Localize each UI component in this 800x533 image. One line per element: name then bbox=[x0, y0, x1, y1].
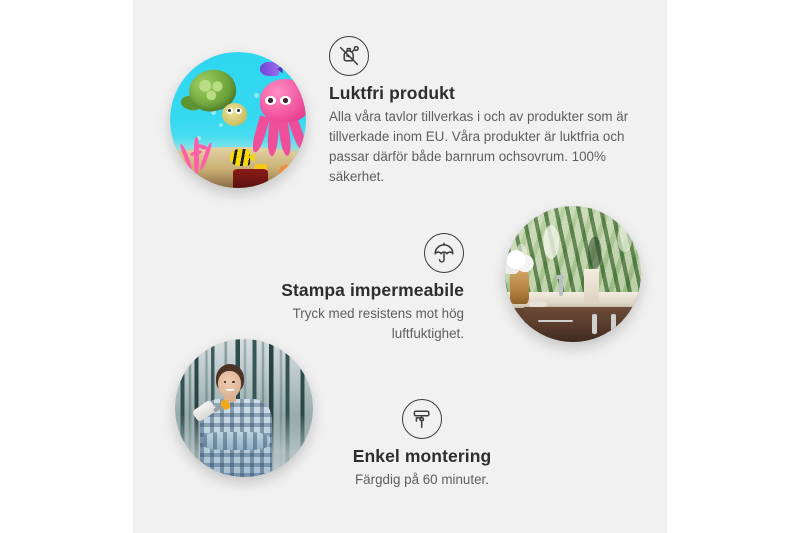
sea-turtle-illustration bbox=[185, 70, 245, 127]
person-crossed-arms bbox=[203, 432, 269, 450]
purple-fish-illustration bbox=[260, 62, 279, 77]
white-flowers bbox=[505, 250, 534, 274]
feature-title: Enkel montering bbox=[329, 446, 515, 467]
person-eye bbox=[232, 381, 235, 383]
person-smile bbox=[226, 389, 233, 391]
screenshot-stage: Luktfri produkt Alla våra tavlor tillver… bbox=[0, 0, 800, 533]
turtle-head bbox=[222, 103, 247, 126]
turtle-eye bbox=[235, 108, 242, 114]
feature-description: Alla våra tavlor tillverkas i och av pro… bbox=[329, 107, 629, 186]
feature-title: Stampa impermeabile bbox=[221, 280, 464, 301]
feature-odourless: Luktfri produkt Alla våra tavlor tillver… bbox=[329, 36, 629, 187]
feature-description: Färgdig på 60 minuter. bbox=[329, 470, 515, 490]
cabinet-handle bbox=[592, 314, 597, 334]
feature-waterproof: Stampa impermeabile Tryck med resistens … bbox=[221, 233, 464, 344]
octopus-head bbox=[260, 79, 306, 122]
person-face bbox=[218, 371, 241, 398]
bathroom-tropical-wallpaper-circle[interactable] bbox=[505, 206, 641, 342]
octopus-eye bbox=[265, 96, 276, 105]
turtle-eye bbox=[227, 108, 234, 114]
content-panel: Luktfri produkt Alla våra tavlor tillver… bbox=[133, 0, 667, 533]
no-odour-perfume-bottle-icon bbox=[329, 36, 369, 76]
cabinet-handle bbox=[611, 314, 617, 334]
person-eye bbox=[224, 381, 227, 383]
painter-person bbox=[200, 364, 272, 477]
octopus-illustration bbox=[252, 79, 306, 155]
umbrella-icon bbox=[424, 233, 464, 273]
coral-illustration bbox=[178, 128, 219, 174]
painter-forest-circle[interactable] bbox=[175, 339, 313, 477]
underwater-cartoon-artwork bbox=[170, 52, 306, 188]
striped-fish-illustration bbox=[230, 149, 250, 167]
feature-easy-assembly: Enkel montering Färgdig på 60 minuter. bbox=[329, 399, 515, 490]
paint-roller-icon bbox=[402, 399, 442, 439]
rolled-towel bbox=[584, 269, 599, 304]
bathroom-photo bbox=[505, 206, 641, 342]
feature-description: Tryck med resistens mot hög luftfuktighe… bbox=[221, 304, 464, 344]
painter-forest-photo bbox=[175, 339, 313, 477]
sunken-object-illustration bbox=[233, 169, 268, 188]
feature-title: Luktfri produkt bbox=[329, 83, 629, 104]
underwater-cartoon-circle[interactable] bbox=[170, 52, 306, 188]
coral-branch bbox=[179, 143, 193, 170]
wooden-vanity-cabinet bbox=[524, 307, 641, 342]
octopus-eye bbox=[280, 96, 291, 105]
drawer-handle bbox=[538, 320, 573, 322]
faucet-icon bbox=[559, 277, 563, 296]
